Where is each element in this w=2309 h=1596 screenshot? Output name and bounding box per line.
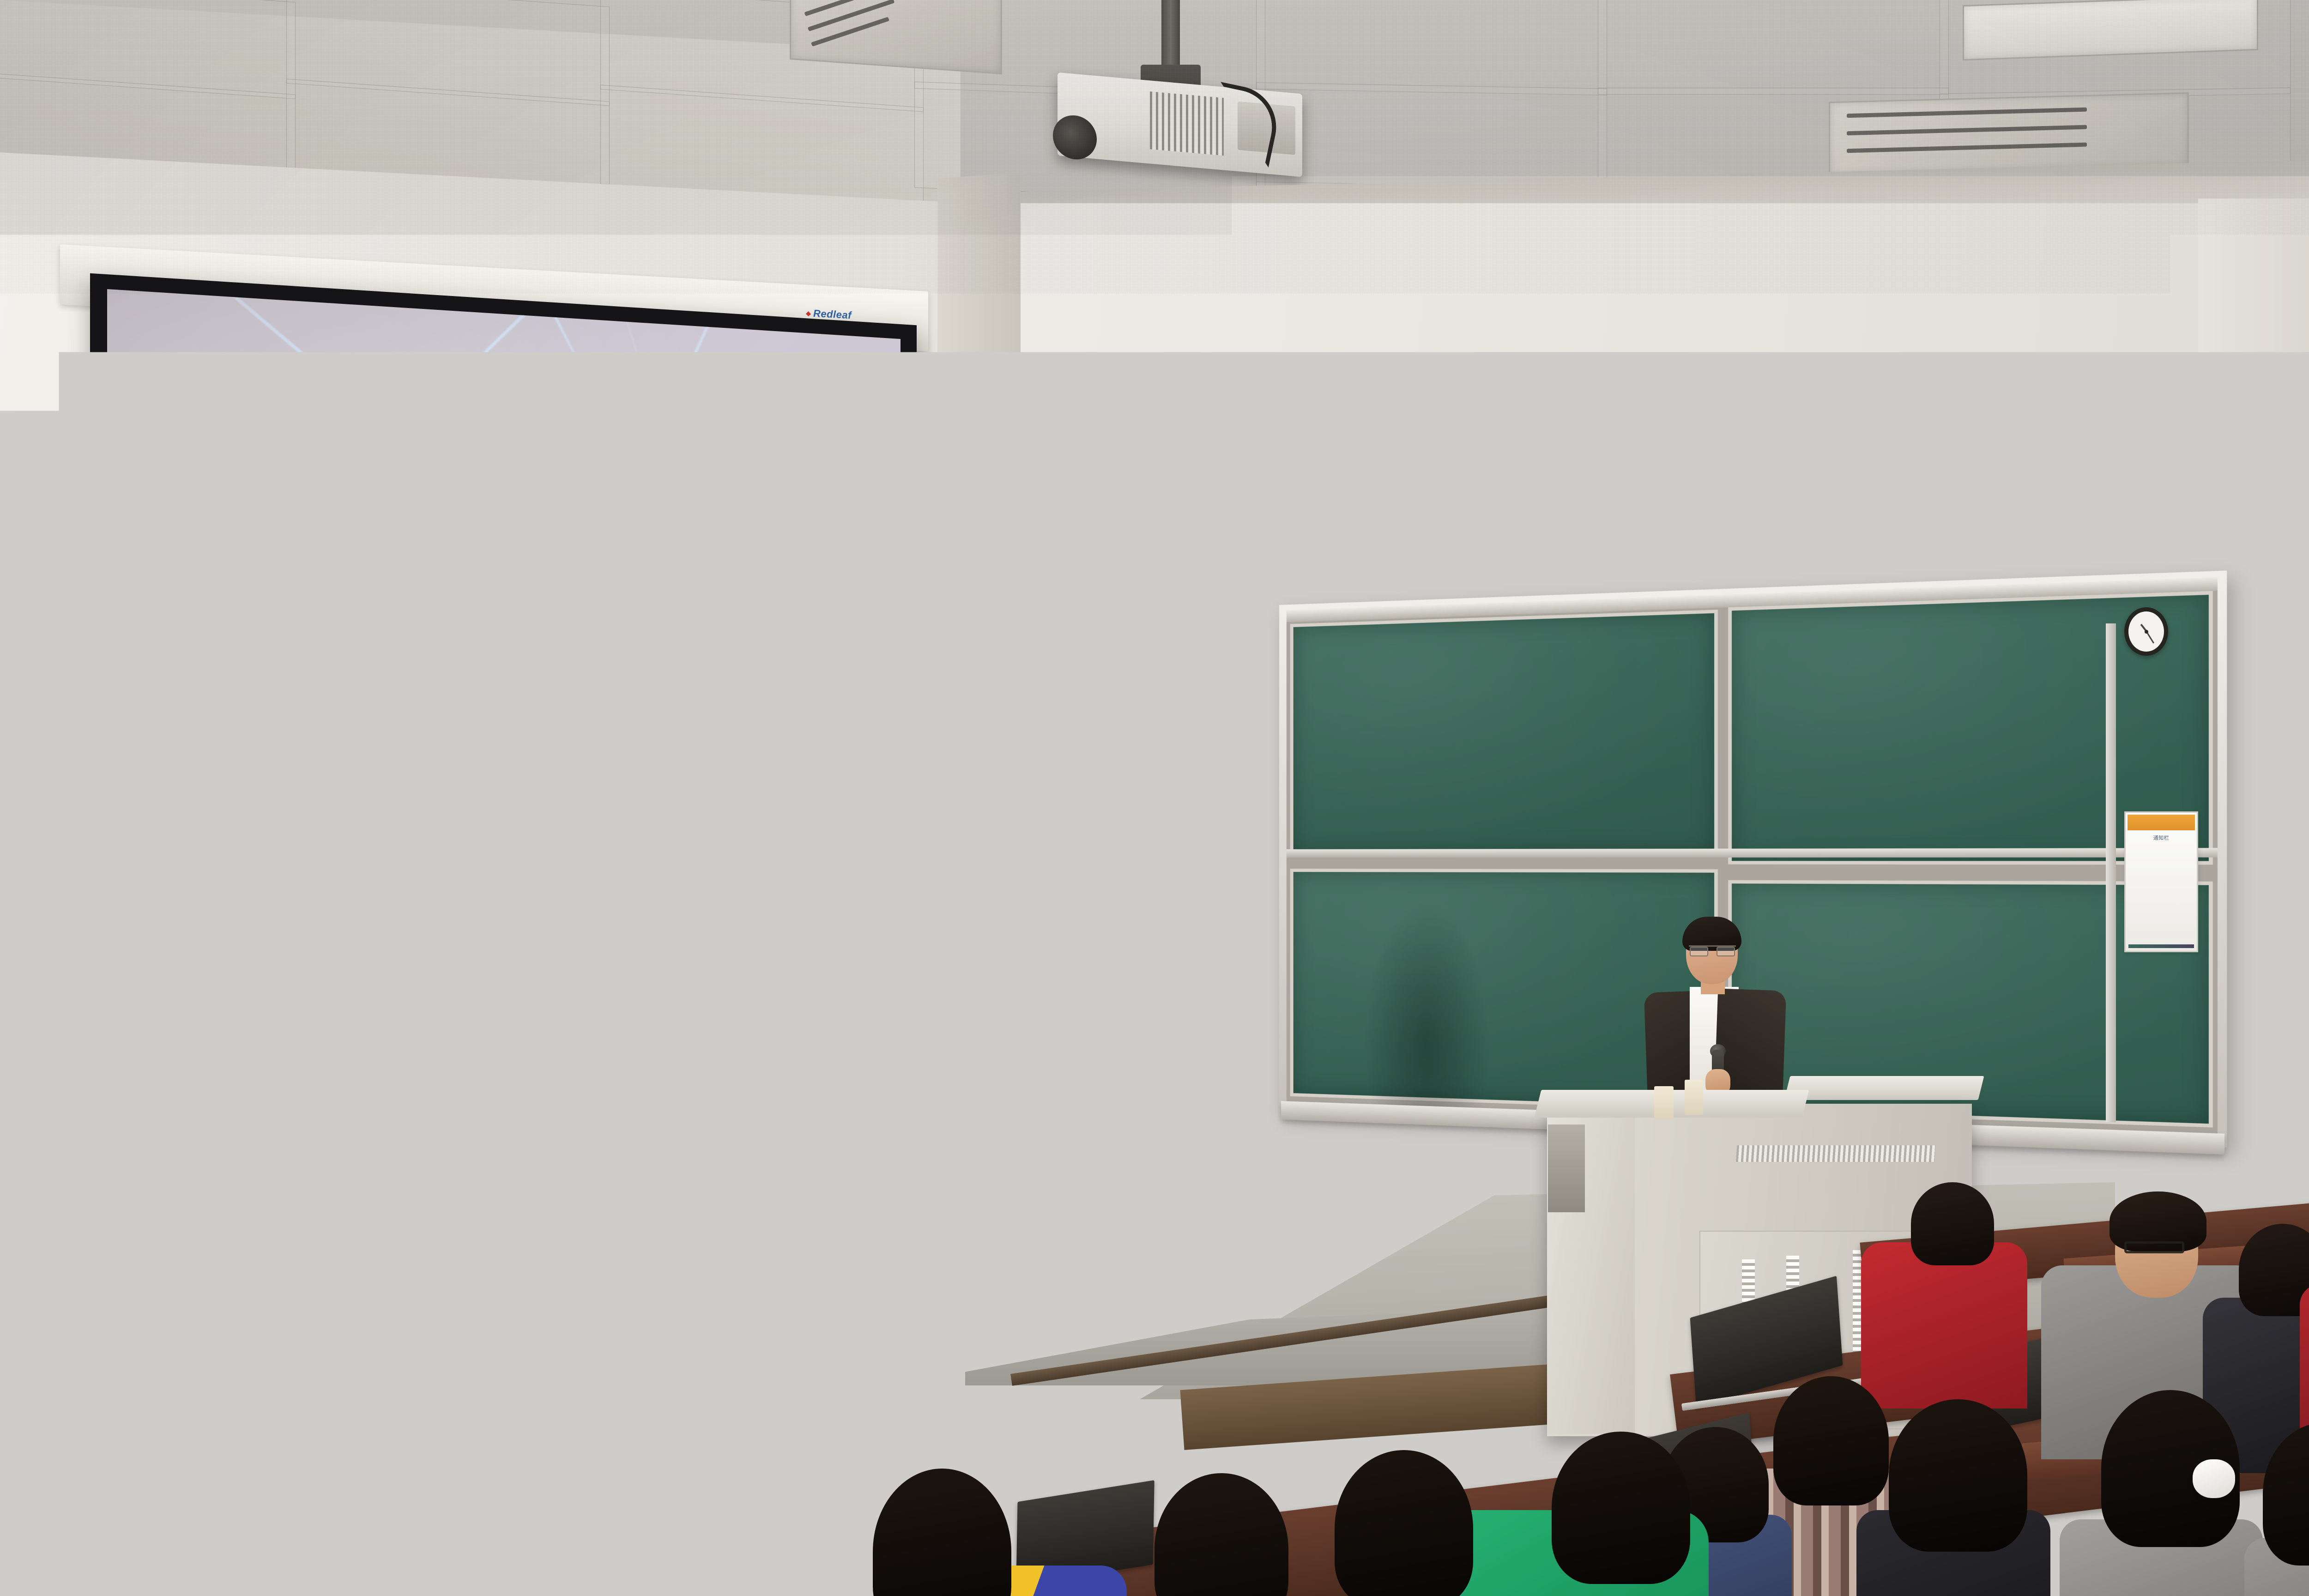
podium-side-shelf <box>1784 1076 1984 1100</box>
light-switch-3[interactable] <box>261 1176 290 1204</box>
electrical-conduit <box>259 1066 272 1178</box>
slide-bullet-3: 适时调整自己的目标 ——向更高的目标调整 <box>162 684 873 806</box>
glasses-icon <box>2124 1241 2184 1253</box>
light-switch-bank[interactable] <box>202 1172 320 1207</box>
notice-board-title: 通知栏 <box>2126 834 2197 841</box>
bullet-dot-icon <box>170 490 186 506</box>
wall-corner-bevel <box>937 173 1021 1287</box>
blackboard-support-post <box>2106 623 2116 1122</box>
ceiling-light-panel <box>1963 0 2258 60</box>
hair-bow <box>2193 1459 2235 1498</box>
glasses-icon <box>1689 945 1736 953</box>
exit-arrow-left-icon <box>175 1539 204 1560</box>
desk-leg-left <box>342 1420 351 1596</box>
podium-open-compartment[interactable] <box>1548 1124 1585 1212</box>
slide-title: 理想、目标与具体行动 <box>107 356 901 465</box>
notice-board-header <box>2128 815 2195 830</box>
exit-sign-text: 安全出口 EXIT <box>241 1531 292 1554</box>
leaf-icon <box>806 311 811 317</box>
paper-cup-2[interactable] <box>1685 1080 1703 1115</box>
desk-leg-right <box>550 1413 559 1596</box>
bullet-dot-icon <box>170 611 186 628</box>
slide-body: 把理想、目标变成具体行动 （起床、学习、自习、休息、文体活动） 有决心，落实自己… <box>162 479 873 850</box>
notice-board: 通知栏 <box>2124 811 2198 952</box>
notice-board-footer <box>2128 944 2194 948</box>
exit-text-chinese: 安全出口 <box>244 1531 285 1546</box>
blackboard-pane-top-left <box>1290 610 1718 856</box>
podium-vent-strip <box>1736 1145 1936 1162</box>
running-man-icon <box>205 1526 241 1567</box>
hvac-vent-right <box>1829 92 2189 175</box>
fire-alarm-call-point[interactable] <box>139 1133 167 1162</box>
bullet-1-line-2: （起床、学习、自习、休息、文体活动） <box>206 521 873 601</box>
projection-screen-surface: 理想、目标与具体行动 把理想、目标变成具体行动 （起床、学习、自习、休息、文体活… <box>107 289 901 973</box>
blackboard-middle-rail <box>1287 848 2218 858</box>
bullet-dot-icon <box>170 694 186 710</box>
paper-cup-1[interactable] <box>1654 1086 1674 1119</box>
exit-text-english: EXIT <box>244 1544 263 1554</box>
bullet-3-line-3: ——向更高的目标调整 <box>206 725 873 805</box>
projector-mount-pole <box>1161 0 1180 69</box>
wall-clock <box>2124 607 2168 656</box>
light-switch-1[interactable] <box>203 1173 232 1201</box>
emergency-exit-sign: 安全出口 EXIT <box>171 1515 293 1576</box>
bullet-2-line-1: 有决心，落实自己的目标 <box>206 607 501 657</box>
light-switch-4[interactable] <box>290 1178 319 1206</box>
light-switch-2[interactable] <box>232 1175 261 1203</box>
clock-center-pin <box>2145 630 2148 634</box>
lecture-hall-photo: Redleaf 理想、目标与具体行动 把理想、目标变成具体行动 （起床、学习、自… <box>0 0 2309 1596</box>
blackboard-shadow <box>1365 903 1489 1108</box>
slide-bullet-2: 有决心，落实自己的目标 <box>162 601 873 684</box>
slide-bullet-1: 把理想、目标变成具体行动 （起床、学习、自习、休息、文体活动） <box>162 479 873 601</box>
screen-bottom-accent-line <box>107 879 901 930</box>
